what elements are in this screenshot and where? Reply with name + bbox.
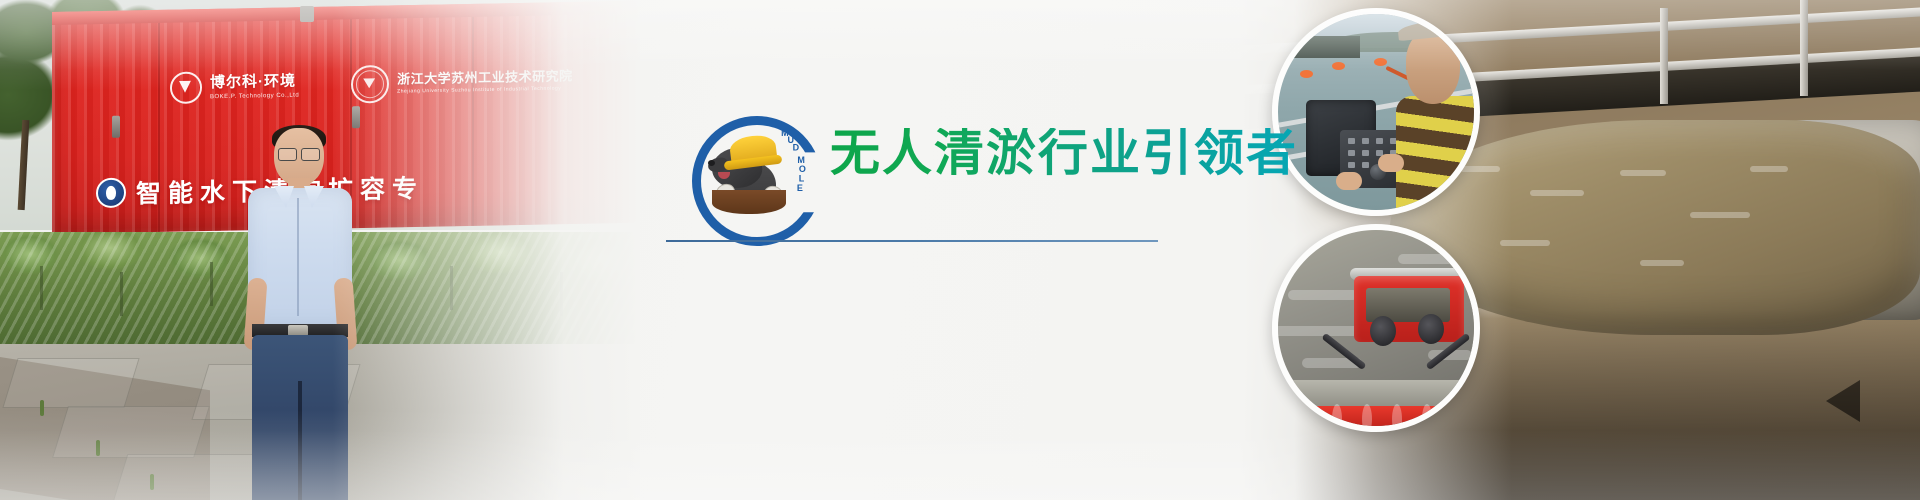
circle-photo-dredging-robot [1272, 224, 1480, 432]
left-photo: 博尔科·环境 BOKE.P. Technology Co.,Ltd 浙江大学苏州… [0, 0, 640, 500]
circle-photo-operator [1272, 8, 1480, 216]
mud-mole-logo: M U D M O L E [692, 116, 804, 228]
robot-wheel [1370, 316, 1396, 346]
dirt-mound [712, 190, 786, 214]
center-content: M U D M O L E [660, 0, 1260, 500]
operator-torso [1396, 96, 1480, 210]
hero-banner: 博尔科·环境 BOKE.P. Technology Co.,Ltd 浙江大学苏州… [0, 0, 1920, 500]
operator-hand [1336, 172, 1362, 190]
mole-nose [708, 160, 715, 166]
logo-arc-letter: D [793, 143, 800, 153]
logo-arc-letter: E [797, 183, 803, 193]
robot-wheel [1418, 314, 1444, 344]
operator-hand [1378, 154, 1404, 172]
operator-head [1406, 30, 1460, 104]
left-photo-vignette [0, 0, 640, 500]
banner-headline: 无人清淤行业引领者 [830, 128, 1298, 178]
headline-divider [666, 240, 1158, 242]
mole-mascot-icon [708, 132, 788, 212]
plant-building [1286, 36, 1360, 58]
